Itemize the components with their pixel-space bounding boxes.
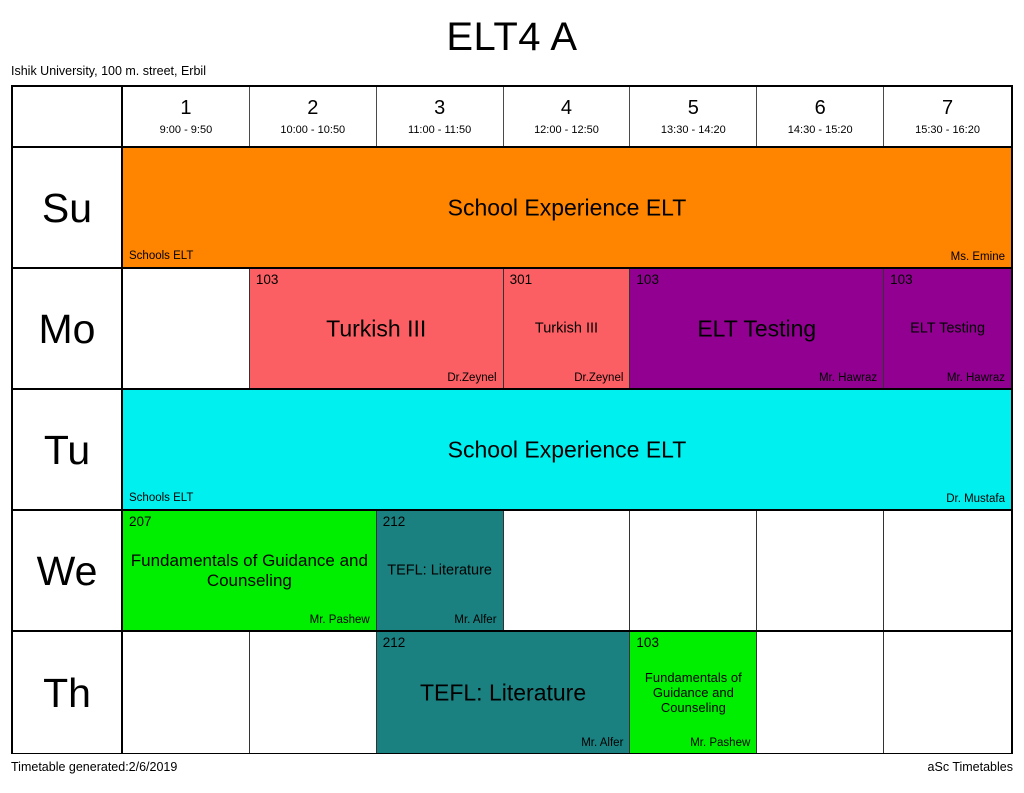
period-header-row: 19:00 - 9:50210:00 - 10:50311:00 - 11:50… [13,87,1011,148]
period-time: 12:00 - 12:50 [534,124,599,137]
period-time: 13:30 - 14:20 [661,124,726,137]
day-label-cell: We [13,511,123,630]
lesson-cell[interactable]: 103ELT TestingMr. Hawraz [630,269,884,388]
period-number: 4 [561,96,572,120]
lesson-subject: ELT Testing [884,320,1011,337]
empty-slot [250,632,377,753]
corner-cell [13,87,123,146]
lesson-cell[interactable]: 301Turkish IIIDr.Zeynel [504,269,631,388]
empty-slot [504,511,631,630]
lesson-teacher: Mr. Pashew [310,613,370,627]
lesson-subject: Turkish III [250,315,503,342]
period-time: 9:00 - 9:50 [160,124,213,137]
day-label: Mo [39,307,96,351]
period-header-1: 19:00 - 9:50 [123,87,250,146]
lesson-cell[interactable]: 212TEFL: LiteratureMr. Alfer [377,632,631,753]
lesson-room: 103 [636,635,659,651]
day-slots: Schools ELTSchool Experience ELTDr. Must… [123,390,1011,509]
lesson-cell[interactable]: Schools ELTSchool Experience ELTMs. Emin… [123,148,1011,267]
lesson-room: 212 [383,514,406,530]
empty-slot [884,511,1011,630]
period-header-slots: 19:00 - 9:50210:00 - 10:50311:00 - 11:50… [123,87,1011,146]
empty-slot [123,632,250,753]
lesson-teacher: Dr.Zeynel [447,371,496,385]
lesson-subject: School Experience ELT [123,436,1011,463]
lesson-room: 301 [510,272,533,288]
period-header-6: 614:30 - 15:20 [757,87,884,146]
day-label: Th [43,671,91,715]
lesson-cell[interactable]: 212TEFL: LiteratureMr. Alfer [377,511,504,630]
lesson-cell[interactable]: 103Turkish IIIDr.Zeynel [250,269,504,388]
empty-slot [123,269,250,388]
period-number: 2 [307,96,318,120]
period-time: 14:30 - 15:20 [788,124,853,137]
period-time: 11:00 - 11:50 [408,124,471,137]
footer-brand: aSc Timetables [928,760,1013,775]
lesson-room: 103 [256,272,279,288]
lesson-cell[interactable]: 103Fundamentals of Guidance and Counseli… [630,632,757,753]
lesson-teacher: Mr. Hawraz [819,371,877,385]
lesson-teacher: Ms. Emine [951,250,1005,264]
day-slots: 207Fundamentals of Guidance and Counseli… [123,511,1011,630]
day-slots: 103Turkish IIIDr.Zeynel301Turkish IIIDr.… [123,269,1011,388]
period-header-7: 715:30 - 16:20 [884,87,1011,146]
day-row-we: We207Fundamentals of Guidance and Counse… [13,511,1011,632]
lesson-room: 207 [129,514,152,530]
lesson-teacher: Dr. Mustafa [946,492,1005,506]
lesson-room: 103 [636,272,659,288]
timetable-grid: 19:00 - 9:50210:00 - 10:50311:00 - 11:50… [11,85,1013,754]
institution-subtitle: Ishik University, 100 m. street, Erbil [11,64,206,78]
day-row-tu: TuSchools ELTSchool Experience ELTDr. Mu… [13,390,1011,511]
lesson-room: Schools ELT [129,490,193,506]
period-time: 15:30 - 16:20 [915,124,980,137]
empty-slot [757,511,884,630]
period-header-4: 412:00 - 12:50 [504,87,631,146]
lesson-room: 212 [383,635,406,651]
lesson-room: Schools ELT [129,248,193,264]
period-number: 7 [942,96,953,120]
period-header-2: 210:00 - 10:50 [250,87,377,146]
day-label-cell: Su [13,148,123,267]
lesson-subject: School Experience ELT [123,194,1011,221]
timetable-page: ELT4 A Ishik University, 100 m. street, … [0,0,1024,793]
lesson-teacher: Mr. Pashew [690,736,750,750]
period-number: 6 [815,96,826,120]
lesson-subject: TEFL: Literature [377,562,503,579]
footer-generated: Timetable generated:2/6/2019 [11,760,177,775]
day-label: We [37,549,98,593]
period-number: 5 [688,96,699,120]
lesson-teacher: Mr. Hawraz [947,371,1005,385]
lesson-cell[interactable]: 207Fundamentals of Guidance and Counseli… [123,511,377,630]
day-label: Su [42,186,92,230]
lesson-subject: ELT Testing [630,315,883,342]
lesson-subject: Fundamentals of Guidance and Counseling [630,670,756,716]
page-title: ELT4 A [0,14,1024,60]
day-slots: Schools ELTSchool Experience ELTMs. Emin… [123,148,1011,267]
day-label: Tu [44,428,90,472]
lesson-subject: Turkish III [504,320,630,337]
day-label-cell: Th [13,632,123,753]
lesson-cell[interactable]: Schools ELTSchool Experience ELTDr. Must… [123,390,1011,509]
period-number: 1 [180,96,191,120]
period-header-5: 513:30 - 14:20 [630,87,757,146]
lesson-teacher: Dr.Zeynel [574,371,623,385]
empty-slot [757,632,884,753]
lesson-cell[interactable]: 103ELT TestingMr. Hawraz [884,269,1011,388]
day-label-cell: Mo [13,269,123,388]
lesson-teacher: Mr. Alfer [454,613,496,627]
period-header-3: 311:00 - 11:50 [377,87,504,146]
empty-slot [884,632,1011,753]
period-time: 10:00 - 10:50 [280,124,345,137]
day-label-cell: Tu [13,390,123,509]
day-row-mo: Mo103Turkish IIIDr.Zeynel301Turkish IIID… [13,269,1011,390]
day-row-su: SuSchools ELTSchool Experience ELTMs. Em… [13,148,1011,269]
empty-slot [630,511,757,630]
lesson-subject: Fundamentals of Guidance and Counseling [123,550,376,590]
day-slots: 212TEFL: LiteratureMr. Alfer103Fundament… [123,632,1011,753]
lesson-room: 103 [890,272,913,288]
lesson-teacher: Mr. Alfer [581,736,623,750]
period-number: 3 [434,96,445,120]
lesson-subject: TEFL: Literature [377,679,630,706]
day-row-th: Th212TEFL: LiteratureMr. Alfer103Fundame… [13,632,1011,753]
